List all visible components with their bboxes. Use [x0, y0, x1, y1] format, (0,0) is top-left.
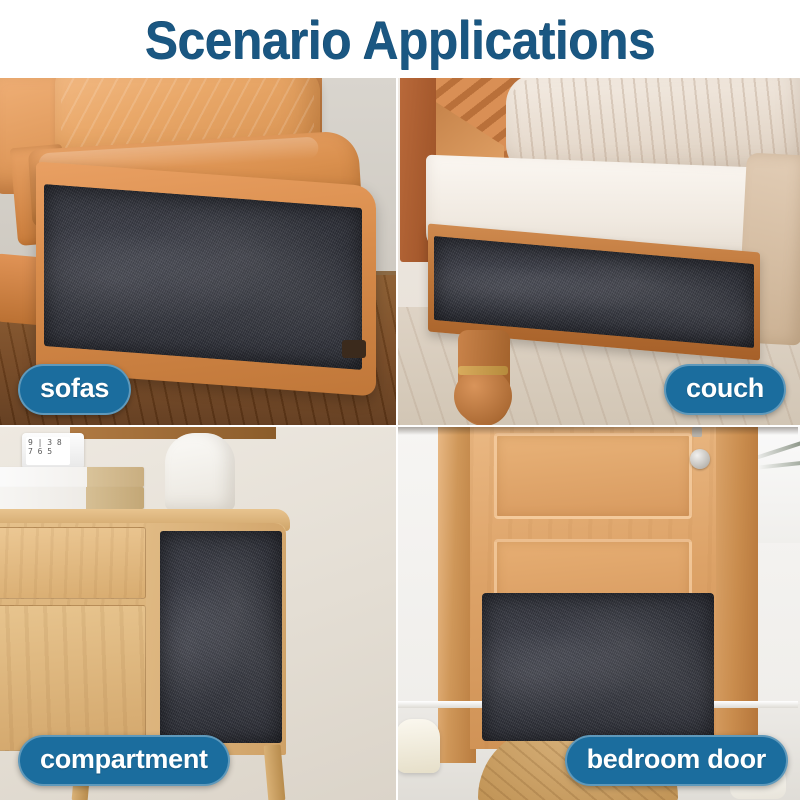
- badge-label-bedroom-door: bedroom door: [565, 735, 788, 786]
- badge-label-couch: couch: [664, 364, 786, 415]
- clock-face-digits: 9 | 3 8 7 6 5: [26, 437, 70, 465]
- sofa-foot: [342, 340, 366, 358]
- bed-leg-brass-ring: [458, 366, 508, 375]
- top-shadow-overlay: [398, 427, 798, 435]
- plant-leaf-upper: [751, 441, 800, 461]
- bed-leg-ball: [454, 368, 512, 424]
- product-scenario-image: Scenario Applications sofas: [0, 0, 800, 800]
- scenario-panel-couch[interactable]: couch: [398, 78, 800, 427]
- upper-shelf-edge: [70, 427, 276, 439]
- scratch-pad-compartment: [160, 531, 282, 743]
- badge-label-compartment: compartment: [18, 735, 230, 786]
- scenario-panel-sofa[interactable]: sofas: [0, 78, 398, 427]
- stacked-book-bottom: [0, 487, 144, 509]
- nightstand-drawer: [0, 527, 146, 599]
- page-title: Scenario Applications: [145, 10, 655, 68]
- header-bar: Scenario Applications: [0, 0, 800, 78]
- ceramic-vase: [165, 433, 235, 511]
- alarm-clock: 9 | 3 8 7 6 5: [22, 433, 84, 469]
- shoe-left: [398, 719, 440, 773]
- stacked-book-top: [0, 467, 144, 487]
- nightstand-door: [0, 605, 146, 751]
- plant-leaf-lower: [758, 461, 800, 470]
- scenario-panel-compartment[interactable]: 9 | 3 8 7 6 5 compartment: [0, 427, 398, 800]
- scenario-grid: sofas couch: [0, 78, 800, 800]
- badge-label-sofas: sofas: [18, 364, 131, 415]
- door-frame-right: [716, 427, 758, 763]
- door-panel-upper: [494, 433, 692, 519]
- scratch-pad-sofa: [44, 184, 362, 370]
- scenario-panel-bedroom-door[interactable]: bedroom door: [398, 427, 800, 800]
- door-lock-icon: [690, 449, 710, 469]
- scratch-pad-bedroom-door: [482, 593, 714, 741]
